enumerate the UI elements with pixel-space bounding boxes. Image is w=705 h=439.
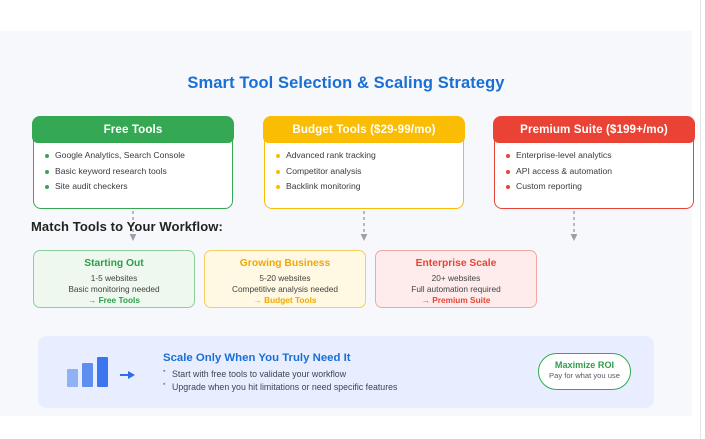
section-heading: Match Tools to Your Workflow: (31, 219, 223, 234)
bullet-dot-icon (506, 170, 510, 174)
tier-card-premium-suite[interactable]: Premium Suite ($199+/mo) Enterprise-leve… (494, 117, 694, 209)
tier-card-free-tools[interactable]: Free Tools Google Analytics, Search Cons… (33, 117, 233, 209)
scaling-advice-title: Scale Only When You Truly Need It (163, 352, 563, 364)
maximize-roi-badge[interactable]: Maximize ROI Pay for what you use (538, 353, 631, 390)
workflow-card-starting-out[interactable]: Starting Out 1-5 websites Basic monitori… (33, 250, 195, 308)
workflow-card-title: Starting Out (34, 258, 194, 269)
workflow-card-recommendation: → Premium Suite (376, 295, 536, 306)
tier-card-body: Advanced rank tracking Competitor analys… (264, 143, 464, 209)
list-item: API access & automation (506, 167, 684, 176)
bar-chart-bar-2 (82, 363, 93, 387)
workflow-card-line-2: Basic monitoring needed (34, 284, 194, 295)
workflow-card-growing-business[interactable]: Growing Business 5-20 websites Competiti… (204, 250, 366, 308)
list-item-label: Backlink monitoring (286, 182, 361, 191)
scaling-advice-panel: Scale Only When You Truly Need It Start … (38, 336, 654, 408)
dashed-arrow-down-icon (359, 211, 369, 243)
workflow-card-line-1: 20+ websites (376, 273, 536, 284)
workflow-card-title: Enterprise Scale (376, 258, 536, 269)
workflow-card-recommendation: → Budget Tools (205, 295, 365, 306)
bar-chart-bar-1 (67, 369, 78, 387)
scaling-advice-bullet: Upgrade when you hit limitations or need… (163, 381, 563, 394)
dashed-arrow-down-icon (569, 211, 579, 243)
workflow-card-enterprise-scale[interactable]: Enterprise Scale 20+ websites Full autom… (375, 250, 537, 308)
bullet-dot-icon (506, 185, 510, 189)
list-item-label: Basic keyword research tools (55, 167, 167, 176)
list-item: Advanced rank tracking (276, 151, 454, 160)
page-right-edge (700, 0, 701, 439)
scaling-advice-text: Scale Only When You Truly Need It Start … (163, 352, 563, 394)
workflow-card-title: Growing Business (205, 258, 365, 269)
list-item-label: Site audit checkers (55, 182, 128, 191)
scaling-advice-bullet: Start with free tools to validate your w… (163, 368, 563, 381)
infographic-root: Smart Tool Selection & Scaling Strategy … (0, 0, 705, 439)
list-item: Site audit checkers (45, 182, 223, 191)
workflow-card-line-1: 1-5 websites (34, 273, 194, 284)
list-item: Backlink monitoring (276, 182, 454, 191)
workflow-card-line-2: Full automation required (376, 284, 536, 295)
list-item: Google Analytics, Search Console (45, 151, 223, 160)
workflow-card-line-2: Competitive analysis needed (205, 284, 365, 295)
list-item-label: Enterprise-level analytics (516, 151, 612, 160)
workflow-card-recommendation: → Free Tools (34, 295, 194, 306)
bar-chart-icon (67, 357, 111, 387)
list-item-label: Google Analytics, Search Console (55, 151, 185, 160)
list-item-label: Competitor analysis (286, 167, 361, 176)
tier-card-header: Budget Tools ($29-99/mo) (263, 116, 465, 143)
bullet-dot-icon (276, 154, 280, 158)
list-item: Enterprise-level analytics (506, 151, 684, 160)
workflow-card-line-1: 5-20 websites (205, 273, 365, 284)
bullet-dot-icon (45, 154, 49, 158)
bullet-dot-icon (276, 170, 280, 174)
bar-chart-bar-3 (97, 357, 108, 387)
list-item-label: Advanced rank tracking (286, 151, 376, 160)
list-item-label: API access & automation (516, 167, 612, 176)
tier-card-body: Enterprise-level analytics API access & … (494, 143, 694, 209)
list-item: Competitor analysis (276, 167, 454, 176)
tier-card-budget-tools[interactable]: Budget Tools ($29-99/mo) Advanced rank t… (264, 117, 464, 209)
list-item: Basic keyword research tools (45, 167, 223, 176)
maximize-roi-title: Maximize ROI (539, 360, 630, 371)
tier-card-header: Free Tools (32, 116, 234, 143)
tier-card-header: Premium Suite ($199+/mo) (493, 116, 695, 143)
bullet-dot-icon (45, 185, 49, 189)
list-item-label: Custom reporting (516, 182, 582, 191)
page-title: Smart Tool Selection & Scaling Strategy (0, 74, 692, 93)
tier-card-body: Google Analytics, Search Console Basic k… (33, 143, 233, 209)
bullet-dot-icon (45, 170, 49, 174)
bullet-dot-icon (276, 185, 280, 189)
arrow-right-icon (120, 368, 136, 382)
maximize-roi-subtitle: Pay for what you use (539, 371, 630, 381)
list-item: Custom reporting (506, 182, 684, 191)
content-panel: Smart Tool Selection & Scaling Strategy … (0, 31, 692, 416)
bullet-dot-icon (506, 154, 510, 158)
